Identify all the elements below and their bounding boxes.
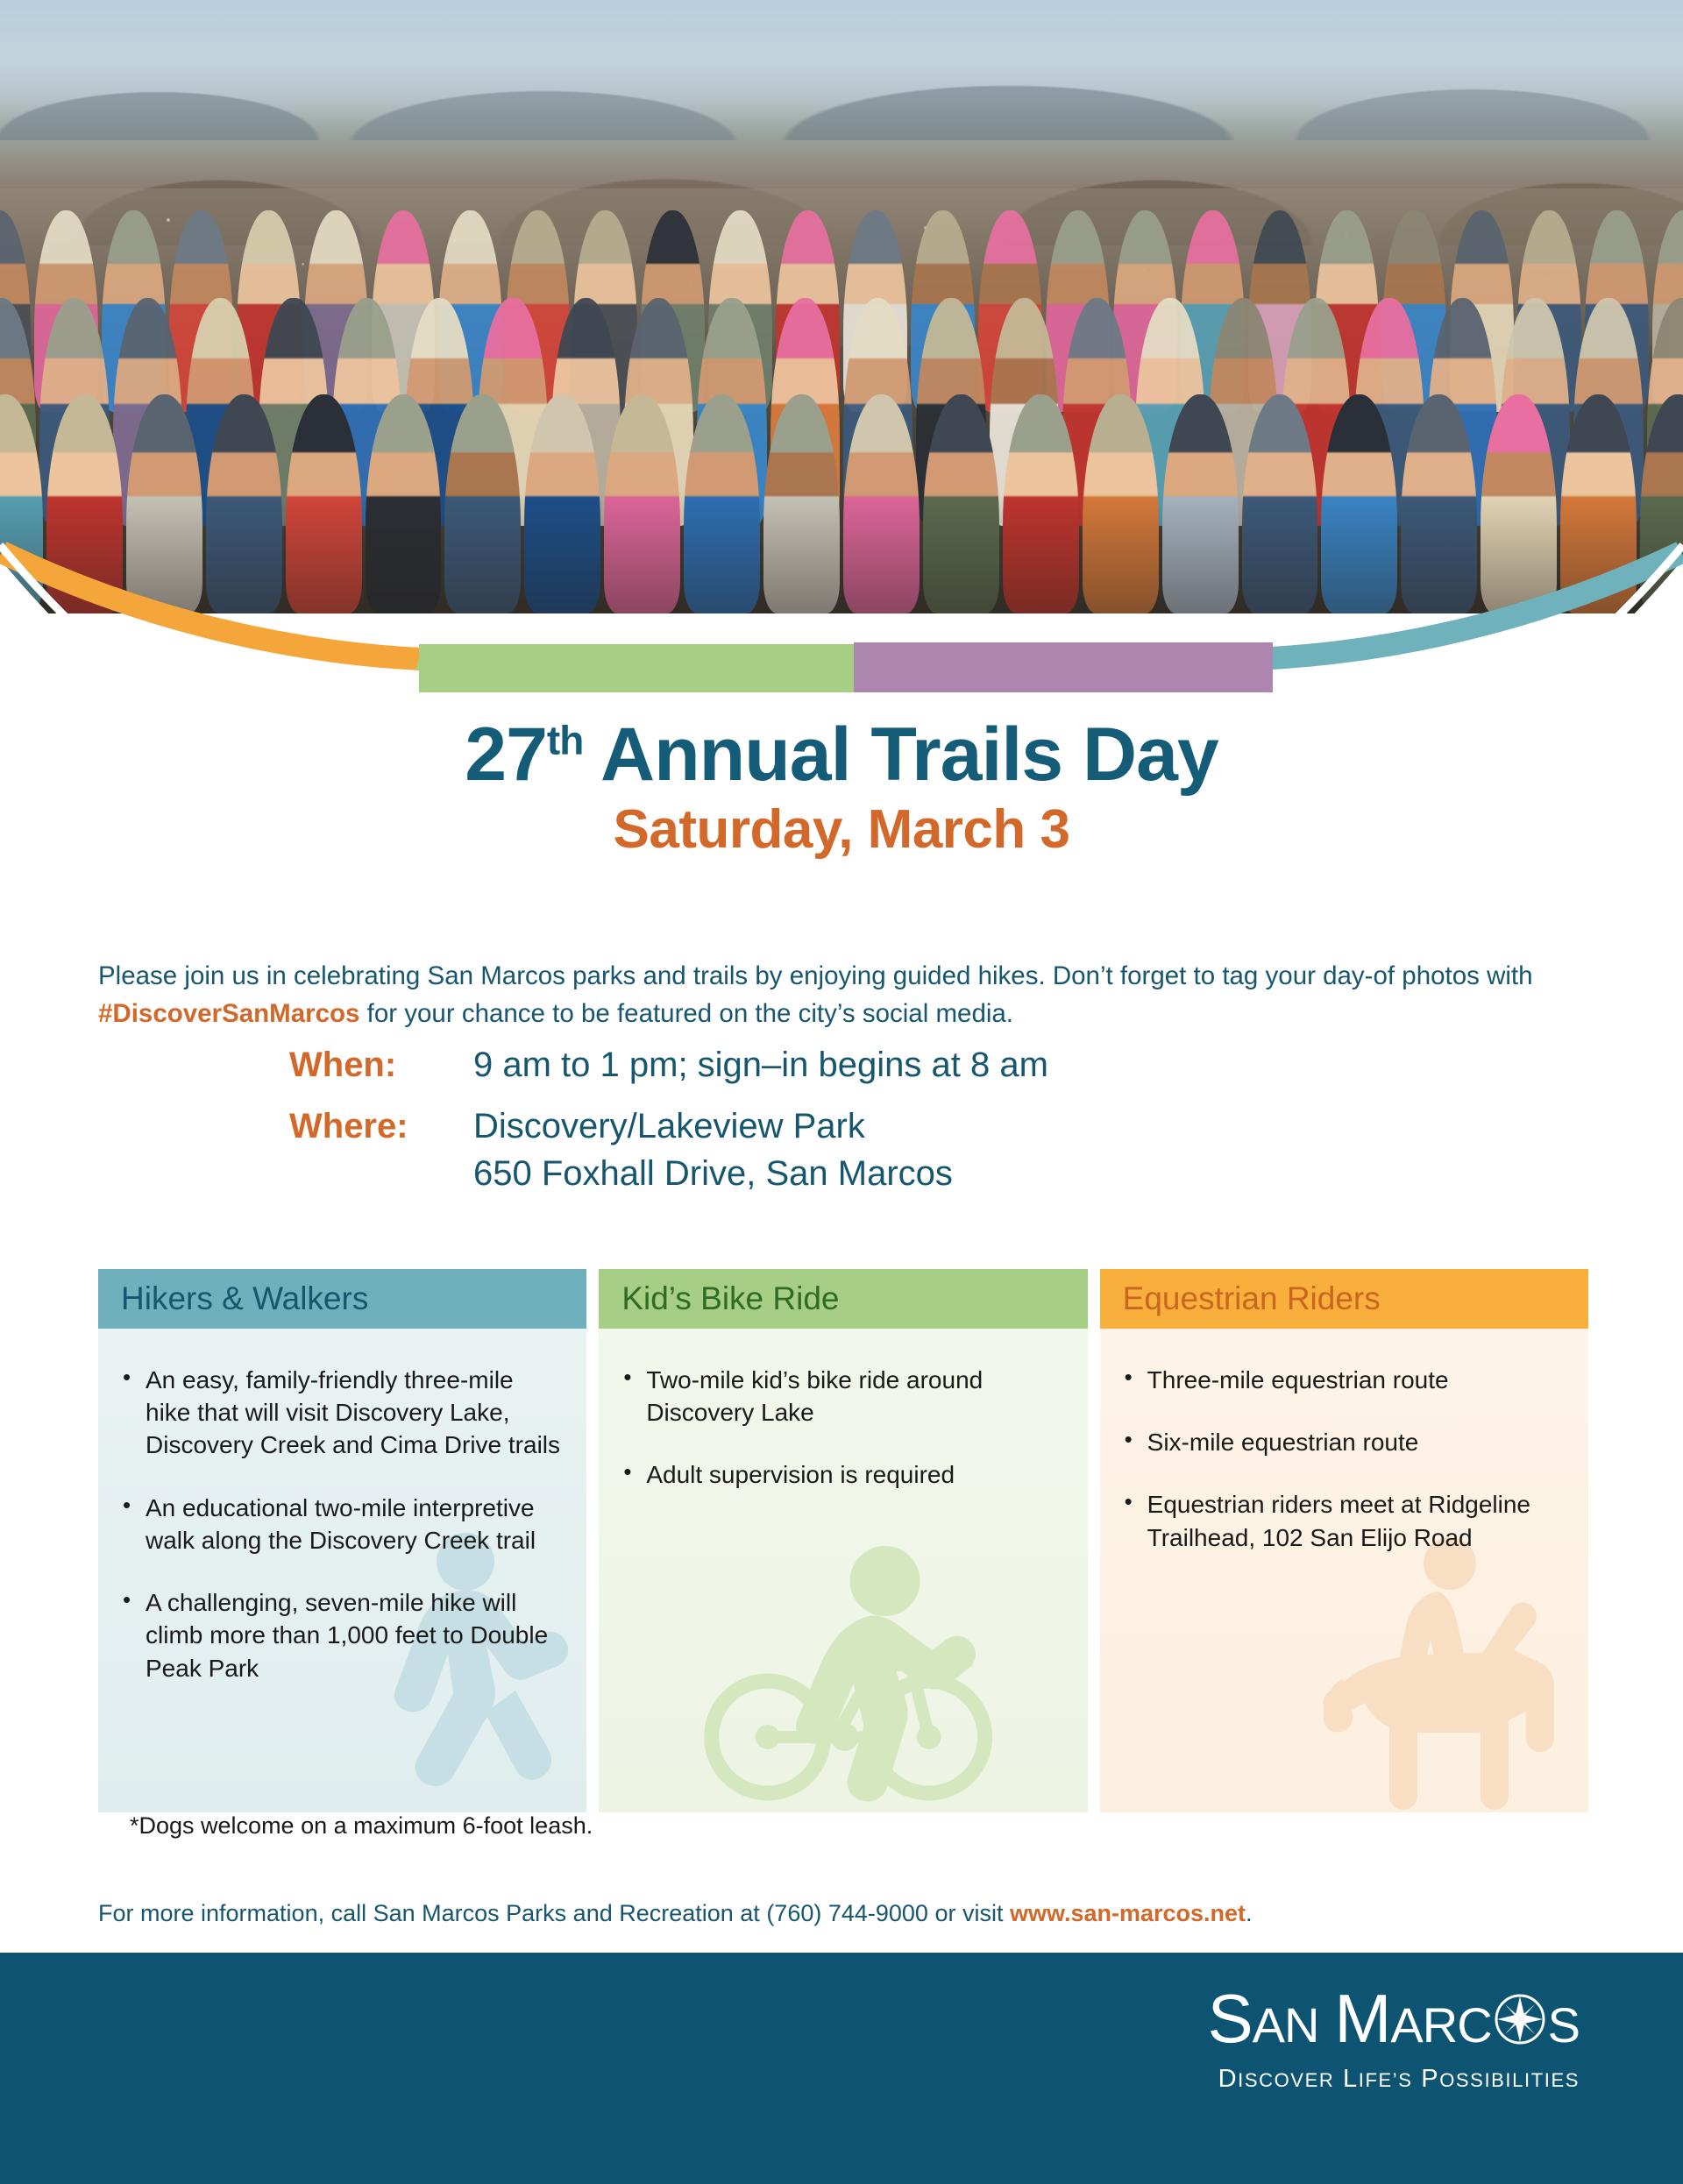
list-item: An easy, family-friendly three-mile hike…: [117, 1364, 564, 1462]
activity-cards-row: Hikers & Walkers An easy, family-friendl…: [98, 1269, 1588, 1812]
activity-card-hikers-walkers: Hikers & Walkers An easy, family-friendl…: [98, 1269, 586, 1812]
where-value: Discovery/Lakeview Park 650 Foxhall Driv…: [473, 1104, 953, 1195]
dogs-leash-footnote: *Dogs welcome on a maximum 6-foot leash.: [130, 1812, 593, 1840]
where-label: Where:: [289, 1104, 473, 1148]
tagline-p: P: [1421, 2065, 1439, 2093]
intro-paragraph: Please join us in celebrating San Marcos…: [98, 957, 1588, 1033]
contact-information-line: For more information, call San Marcos Pa…: [98, 1900, 1588, 1927]
list-item: Equestrian riders meet at Ridgeline Trai…: [1119, 1488, 1566, 1553]
card-list-kids-bike-ride: Two-mile kid’s bike ride around Discover…: [618, 1364, 1064, 1492]
card-title-hikers-walkers: Hikers & Walkers: [121, 1280, 368, 1317]
list-item: Three-mile equestrian route: [1119, 1364, 1566, 1396]
card-header-hikers-walkers: Hikers & Walkers: [98, 1269, 586, 1329]
event-title: 27th Annual Trails Day: [0, 717, 1683, 792]
intro-text-part1: Please join us in celebrating San Marcos…: [98, 961, 1533, 990]
card-body-equestrian-riders: Three-mile equestrian route Six-mile equ…: [1100, 1329, 1588, 1812]
when-value: 9 am to 1 pm; sign–in begins at 8 am: [473, 1043, 1048, 1087]
intro-text-part2: for your chance to be featured on the ci…: [359, 999, 1013, 1028]
when-label: When:: [289, 1043, 473, 1087]
card-title-equestrian-riders: Equestrian Riders: [1123, 1280, 1381, 1317]
tagline-ifes: IFE’S: [1359, 2069, 1413, 2091]
tagline-l: L: [1343, 2065, 1359, 2093]
flyer-title-block: 27th Annual Trails Day Saturday, March 3: [0, 717, 1683, 858]
list-item: A challenging, seven-mile hike will clim…: [117, 1586, 564, 1684]
detail-row-when: When: 9 am to 1 pm; sign–in begins at 8 …: [289, 1043, 1604, 1087]
tagline-iscover: ISCOVER: [1238, 2069, 1334, 2091]
event-date-subtitle: Saturday, March 3: [0, 801, 1683, 858]
hero-photo-banner: [0, 0, 1683, 684]
where-value-line-park: Discovery/Lakeview Park: [473, 1104, 953, 1148]
photo-bottom-shade: [0, 491, 1683, 613]
activity-card-kids-bike-ride: Kid’s Bike Ride: [599, 1269, 1087, 1812]
san-marcos-city-logo: SANMARC S DISCOVER LIFE’S POSSIBILITIES: [1208, 1984, 1580, 2094]
where-value-line-address: 650 Foxhall Drive, San Marcos: [473, 1152, 953, 1195]
list-item: Adult supervision is required: [618, 1458, 1064, 1491]
logo-s: S: [1208, 1984, 1253, 2053]
logo-wordmark: SANMARC S: [1208, 1984, 1580, 2053]
event-ordinal-number: 27: [465, 713, 547, 797]
logo-an: AN: [1253, 2001, 1319, 2050]
logo-tagline: DISCOVER LIFE’S POSSIBILITIES: [1208, 2065, 1580, 2094]
card-title-kids-bike-ride: Kid’s Bike Ride: [621, 1280, 839, 1317]
when-value-line: 9 am to 1 pm; sign–in begins at 8 am: [473, 1043, 1048, 1087]
hilltop-landscape-background: [0, 0, 1683, 613]
activity-card-equestrian-riders: Equestrian Riders Three-mile equestrian …: [1100, 1269, 1588, 1812]
tagline-ossibilities: OSSIBILITIES: [1439, 2069, 1580, 2091]
detail-row-where: Where: Discovery/Lakeview Park 650 Foxha…: [289, 1104, 1604, 1195]
logo-arc: ARC: [1390, 2001, 1491, 2050]
tagline-d: D: [1218, 2065, 1239, 2093]
contact-text-part1: For more information, call San Marcos Pa…: [98, 1900, 1010, 1926]
card-header-kids-bike-ride: Kid’s Bike Ride: [599, 1269, 1087, 1329]
card-header-equestrian-riders: Equestrian Riders: [1100, 1269, 1588, 1329]
city-website-link[interactable]: www.san-marcos.net: [1010, 1900, 1246, 1926]
card-list-equestrian-riders: Three-mile equestrian route Six-mile equ…: [1119, 1364, 1566, 1554]
logo-s2: S: [1548, 2001, 1580, 2050]
discover-san-marcos-hashtag: #DiscoverSanMarcos: [98, 999, 359, 1028]
event-ordinal-suffix: th: [547, 717, 583, 762]
event-details-block: When: 9 am to 1 pm; sign–in begins at 8 …: [289, 1043, 1604, 1213]
contact-text-part2: .: [1246, 1900, 1253, 1926]
list-item: Six-mile equestrian route: [1119, 1426, 1566, 1458]
card-body-kids-bike-ride: Two-mile kid’s bike ride around Discover…: [599, 1329, 1087, 1812]
list-item: An educational two-mile interpretive wal…: [117, 1492, 564, 1556]
card-list-hikers-walkers: An easy, family-friendly three-mile hike…: [117, 1364, 564, 1684]
list-item: Two-mile kid’s bike ride around Discover…: [618, 1364, 1064, 1429]
logo-m: M: [1334, 1984, 1390, 2053]
card-body-hikers-walkers: An easy, family-friendly three-mile hike…: [98, 1329, 586, 1812]
compass-rose-icon: [1494, 1988, 1546, 2040]
event-title-text: Annual Trails Day: [600, 713, 1218, 797]
